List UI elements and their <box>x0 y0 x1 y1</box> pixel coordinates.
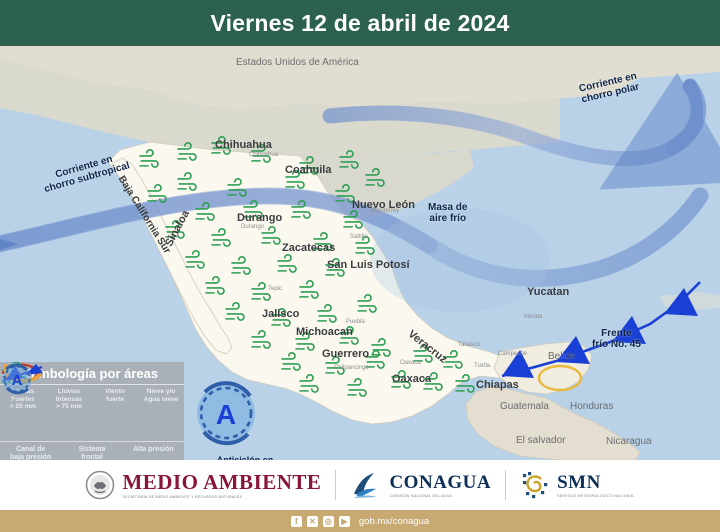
legend-item-viento-fuerte: Viento fuerte <box>92 385 138 439</box>
annotation-cold-front-line2: frío No. 45 <box>592 339 641 350</box>
annotation-cold-air-mass-line2: aire frío <box>428 213 467 224</box>
legend-item-lluvias-intensas: Lluvias Intensas > 75 mm <box>46 385 92 439</box>
map-canvas: A <box>0 46 720 460</box>
footer-bar: MEDIO AMBIENTE SECRETARÍA DE MEDIO AMBIE… <box>0 460 720 510</box>
high-pressure-glyph: A <box>12 372 23 389</box>
weather-map-infographic: Viernes 12 de abril de 2024 <box>0 0 720 532</box>
legend-item-nieve: Nieve y/o Agua nieve <box>138 385 184 439</box>
logo-conagua-title: CONAGUA <box>389 472 491 494</box>
li-l1: Lluvias <box>56 388 82 396</box>
social-url-link[interactable]: gob.mx/conagua <box>359 516 429 527</box>
legend-item-frontal-label: Sistema frontal <box>79 446 106 461</box>
annotation-cold-air-mass-line1: Masa de <box>428 202 467 213</box>
sf-l1: Sistema <box>79 446 106 454</box>
annotation-cold-air-mass: Masa de aire frío <box>428 202 467 224</box>
x-icon[interactable]: ✕ <box>307 516 318 527</box>
legend-row-systems: Canal de baja presión Sistema frontal <box>0 442 184 461</box>
logo-medio-ambiente: MEDIO AMBIENTE SECRETARÍA DE MEDIO AMBIE… <box>85 470 321 500</box>
cb-l1: Canal de <box>10 446 51 454</box>
li-l3: > 75 mm <box>56 403 82 411</box>
lf-l2: Fuertes <box>10 396 36 404</box>
conagua-wave-icon <box>350 470 382 500</box>
header-bar: Viernes 12 de abril de 2024 <box>0 0 720 46</box>
lf-l3: > 25 mm <box>10 403 36 411</box>
legend-item-canal-baja-presion: Canal de baja presión <box>0 442 61 461</box>
facebook-icon[interactable]: f <box>291 516 302 527</box>
legend-item-alta-presion-label: Alta presión <box>133 446 173 454</box>
legend-item-lluvias-intensas-label: Lluvias Intensas > 75 mm <box>56 388 82 411</box>
annotation-cold-front-line1: Frente <box>592 328 641 339</box>
footer-divider-2 <box>505 470 506 500</box>
logo-conagua: CONAGUA COMISIÓN NACIONAL DEL AGUA <box>350 470 491 500</box>
logo-smn-title: SMN <box>557 472 634 494</box>
svg-text:A: A <box>216 399 236 430</box>
legend-item-sistema-frontal: Sistema frontal <box>61 442 122 461</box>
nv-l1: Nieve y/o <box>144 388 179 396</box>
logo-smn-subtitle: SERVICIO METEOROLÓGICO NACIONAL <box>557 494 634 499</box>
nv-l2: Agua nieve <box>144 396 179 404</box>
ap-l1: Alta presión <box>133 446 173 454</box>
social-bar: f ✕ ◎ ▶ gob.mx/conagua <box>0 510 720 532</box>
annotation-cold-front: Frente frío No. 45 <box>592 328 641 350</box>
legend-item-viento-fuerte-label: Viento fuerte <box>105 388 125 403</box>
legend-panel: Simbología por áreas Lluvias Fuertes > 2… <box>0 362 184 460</box>
anticyclone-symbol-map: A <box>197 383 255 443</box>
vf-l1: Viento <box>105 388 125 396</box>
footer-divider-1 <box>335 470 336 500</box>
instagram-icon[interactable]: ◎ <box>323 516 334 527</box>
page-title: Viernes 12 de abril de 2024 <box>0 0 720 46</box>
logo-conagua-subtitle: COMISIÓN NACIONAL DEL AGUA <box>389 494 491 499</box>
mexico-eagle-seal-icon <box>85 470 115 500</box>
logo-smn: SMN SERVICIO METEOROLÓGICO NACIONAL <box>520 470 634 500</box>
logo-medio-ambiente-subtitle: SECRETARÍA DE MEDIO AMBIENTE Y RECURSOS … <box>122 495 321 500</box>
legend-item-canal-label: Canal de baja presión <box>10 446 51 461</box>
youtube-icon[interactable]: ▶ <box>339 516 350 527</box>
legend-item-alta-presion: Alta presión A <box>123 442 184 461</box>
smn-spiral-icon <box>520 470 550 500</box>
legend-item-nieve-label: Nieve y/o Agua nieve <box>144 388 179 403</box>
vf-l2: fuerte <box>105 396 125 404</box>
li-l2: Intensas <box>56 396 82 404</box>
logo-medio-ambiente-title: MEDIO AMBIENTE <box>122 470 321 495</box>
